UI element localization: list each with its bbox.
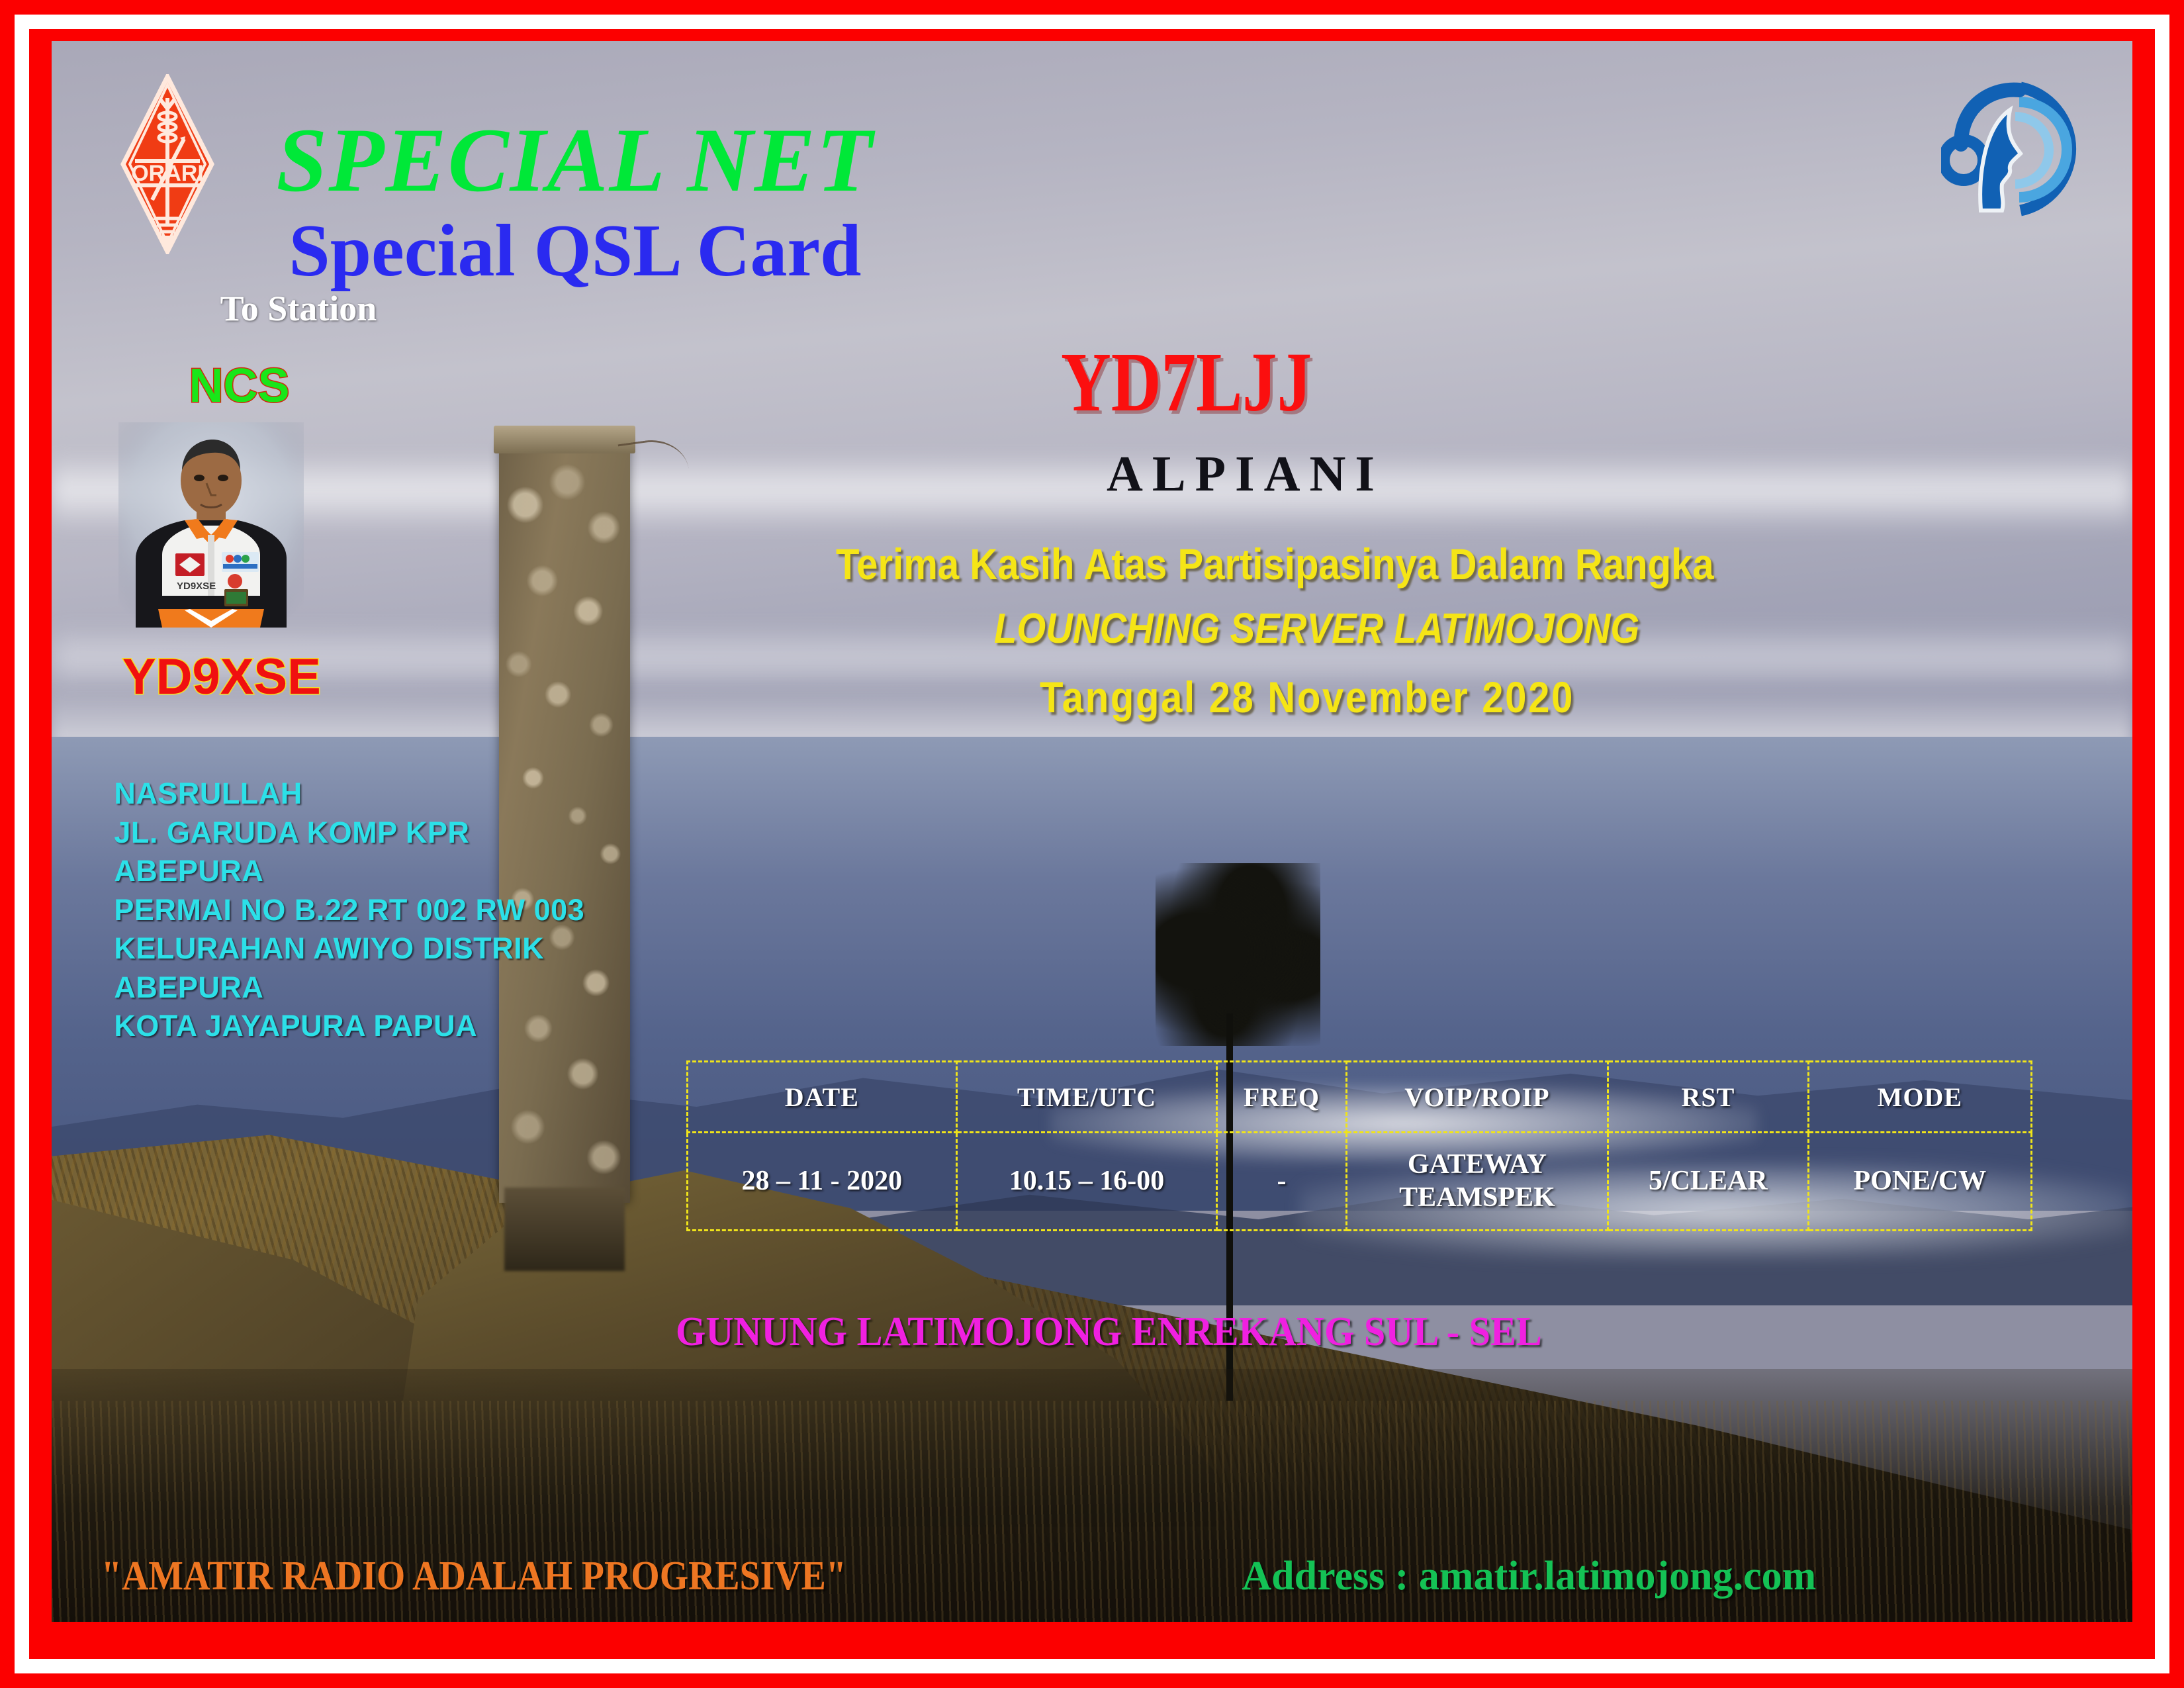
address-line: KELURAHAN AWIYO DISTRIK <box>114 929 584 968</box>
event-date: Tanggal 28 November 2020 <box>1040 672 1574 722</box>
event-location: GUNUNG LATIMOJONG ENREKANG SUL - SEL <box>676 1309 1542 1356</box>
column-header-voip-roip: VOIP/ROIP <box>1346 1062 1608 1133</box>
card-background-photo: ORARI SPECIAL NET <box>52 41 2132 1622</box>
headset-profile-logo <box>1941 81 2083 216</box>
column-header-date: DATE <box>687 1062 956 1133</box>
cloud-streak-upper <box>52 452 2132 531</box>
address-line: PERMAI NO B.22 RT 002 RW 003 <box>114 891 584 930</box>
event-name: LOUNCHING SERVER LATIMOJONG <box>994 604 1639 653</box>
qsl-card-frame: ORARI SPECIAL NET <box>0 0 2184 1688</box>
orari-logo: ORARI <box>120 74 214 254</box>
address-line: ABEPURA <box>114 852 584 891</box>
qso-details-table: DATE TIME/UTC FREQ VOIP/ROIP RST MODE 28… <box>686 1060 2032 1231</box>
pillar-base <box>504 1188 625 1271</box>
tree-canopy <box>1156 863 1320 1046</box>
cell-freq: - <box>1217 1133 1347 1231</box>
cell-voip-roip: GATEWAY TEAMSPEK <box>1346 1133 1608 1231</box>
station-address-block: NASRULLAH JL. GARUDA KOMP KPR ABEPURA PE… <box>114 774 584 1046</box>
cell-voip-line-1: GATEWAY <box>1347 1149 1607 1182</box>
page-title-special-net: SPECIAL NET <box>277 107 874 212</box>
footer-motto: "AMATIR RADIO ADALAH PROGRESIVE" <box>101 1553 846 1600</box>
column-header-time: TIME/UTC <box>956 1062 1216 1133</box>
event-thanks-line: Terima Kasih Atas Partisipasinya Dalam R… <box>836 539 1714 589</box>
uniform-callsign-text: YD9XSE <box>177 581 216 592</box>
column-header-mode: MODE <box>1808 1062 2031 1133</box>
address-line: KOTA JAYAPURA PAPUA <box>114 1007 584 1046</box>
cell-time: 10.15 – 16-00 <box>956 1133 1216 1231</box>
address-line: JL. GARUDA KOMP KPR <box>114 814 584 853</box>
cell-voip-line-2: TEAMSPEK <box>1347 1182 1607 1215</box>
station-callsign: YD7LJJ <box>1061 334 1312 431</box>
cell-date: 28 – 11 - 2020 <box>687 1133 956 1231</box>
table-header-row: DATE TIME/UTC FREQ VOIP/ROIP RST MODE <box>687 1062 2031 1133</box>
operator-name: ALPIANI <box>1107 445 1384 503</box>
cell-rst: 5/CLEAR <box>1608 1133 1809 1231</box>
subtitle-special-qsl-card: Special QSL Card <box>289 209 861 294</box>
to-station-label: To Station <box>220 288 377 329</box>
address-line: NASRULLAH <box>114 774 584 814</box>
table-row: 28 – 11 - 2020 10.15 – 16-00 - GATEWAY T… <box>687 1133 2031 1231</box>
address-line: ABEPURA <box>114 968 584 1008</box>
footer-web-address: Address : amatir.latimojong.com <box>1242 1553 1816 1600</box>
ncs-callsign: YD9XSE <box>122 648 321 706</box>
orari-logo-text: ORARI <box>131 161 204 186</box>
ncs-operator-photo: YD9XSE <box>118 422 304 628</box>
column-header-rst: RST <box>1608 1062 1809 1133</box>
ncs-role-label: NCS <box>189 359 290 413</box>
cell-mode: PONE/CW <box>1808 1133 2031 1231</box>
column-header-freq: FREQ <box>1217 1062 1347 1133</box>
